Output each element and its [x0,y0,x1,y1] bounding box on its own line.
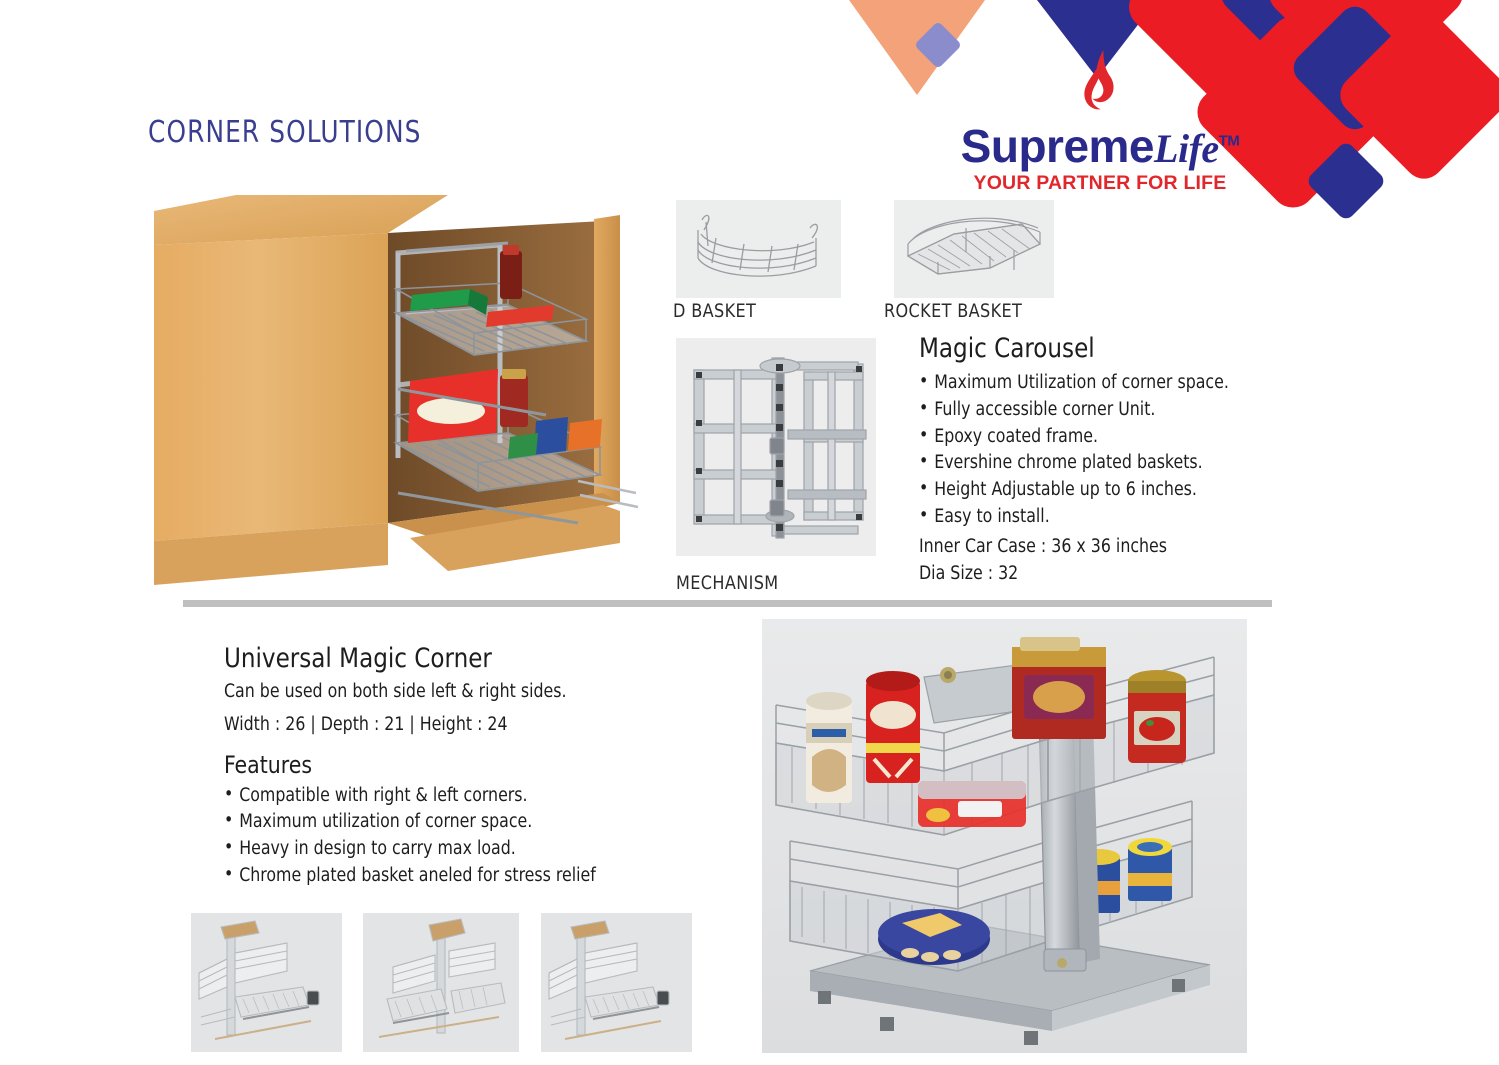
umc-description: Can be used on both side left & right si… [224,679,623,706]
brand-logo: SupremeLifeTM YOUR PARTNER FOR LIFE [955,48,1245,195]
trademark-symbol: TM [1219,133,1240,150]
brand-name-sub: Life [1154,126,1219,171]
umc-heading: Universal Magic Corner [224,643,623,674]
umc-feature: Maximum utilization of corner space. [224,809,623,836]
magic-carousel-bullet: Evershine chrome plated baskets. [919,450,1261,477]
umc-feature: Heavy in design to carry max load. [224,836,623,863]
magic-carousel-section: Magic Carousel Maximum Utilization of co… [919,333,1279,588]
d-basket-caption: D BASKET [673,300,756,322]
brand-name-main: Supreme [961,120,1154,172]
magic-carousel-spec: Dia Size : 32 [919,561,1261,588]
magic-corner-thumbnail-1 [191,913,342,1052]
section-divider [183,600,1272,607]
magic-carousel-heading: Magic Carousel [919,333,1261,364]
magic-carousel-bullet: Easy to install. [919,504,1261,531]
red-diamond-shape-4 [1332,3,1499,187]
universal-magic-corner-section: Universal Magic Corner Can be used on bo… [224,643,644,890]
d-basket-photo [676,200,841,298]
corner-cabinet-photo [148,193,648,593]
magic-carousel-bullet: Fully accessible corner Unit. [919,397,1261,424]
magic-corner-thumbnail-3 [541,913,692,1052]
blue-diamond-shape-3 [1305,140,1387,222]
universal-magic-corner-hero-photo [762,619,1247,1053]
rocket-basket-photo [894,200,1054,298]
magic-carousel-bullet: Epoxy coated frame. [919,424,1261,451]
umc-feature: Chrome plated basket aneled for stress r… [224,863,623,890]
flame-icon [1065,48,1135,116]
umc-feature: Compatible with right & left corners. [224,783,623,810]
page-title: CORNER SOLUTIONS [148,115,421,150]
umc-features-heading: Features [224,751,623,779]
brand-name: SupremeLifeTM [955,123,1245,169]
magic-carousel-bullet: Height Adjustable up to 6 inches. [919,477,1261,504]
umc-dimensions: Width : 26 | Depth : 21 | Height : 24 [224,712,623,739]
magic-carousel-spec: Inner Car Case : 36 x 36 inches [919,534,1261,561]
blue-diamond-shape-2 [1287,0,1423,136]
magic-carousel-bullet: Maximum Utilization of corner space. [919,370,1261,397]
mechanism-caption: MECHANISM [676,572,779,594]
red-diamond-shape-2 [1260,0,1472,99]
rocket-basket-caption: ROCKET BASKET [884,300,1022,322]
brand-tagline: YOUR PARTNER FOR LIFE [955,172,1245,195]
magic-corner-thumbnail-2 [363,913,519,1052]
mechanism-photo [676,338,876,556]
